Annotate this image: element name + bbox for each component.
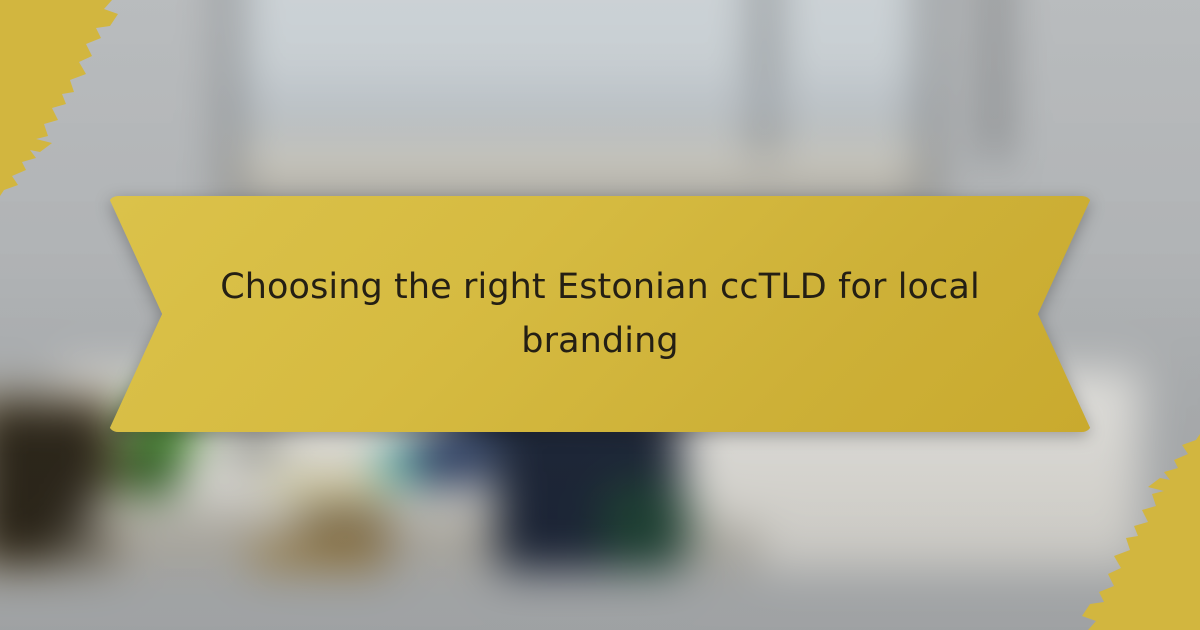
page-title: Choosing the right Estonian ccTLD for lo… [220,260,980,369]
social-card: Choosing the right Estonian ccTLD for lo… [0,0,1200,630]
title-ribbon-banner: Choosing the right Estonian ccTLD for lo… [108,196,1092,432]
